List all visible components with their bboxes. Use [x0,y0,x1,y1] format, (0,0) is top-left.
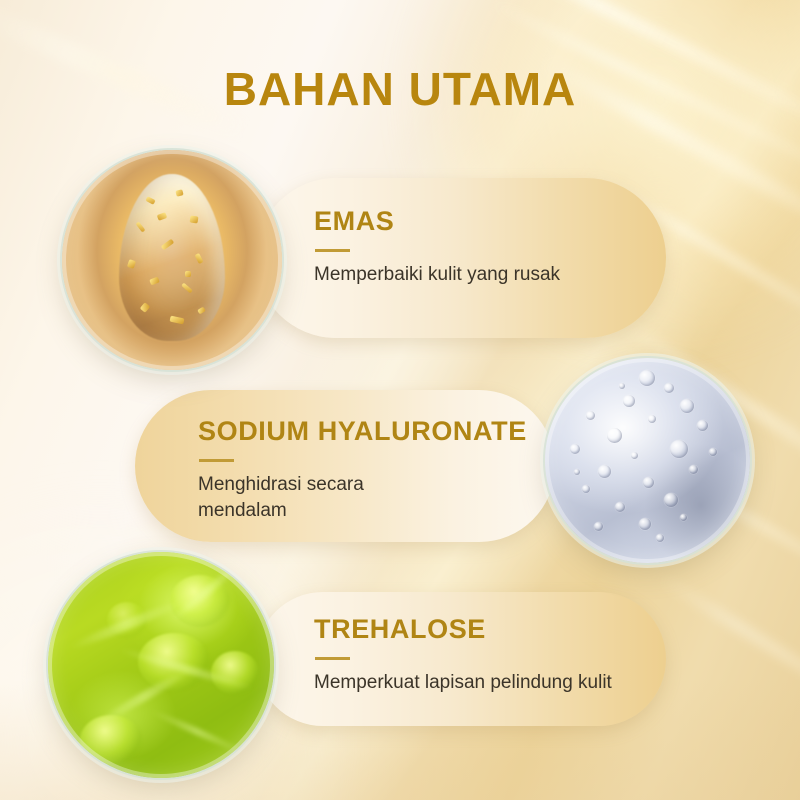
ingredient-name: TREHALOSE [314,614,612,645]
divider [315,249,350,252]
gold-droplet-petri-dish-image [62,150,282,370]
divider [199,459,234,462]
ingredient-card-trehalose: TREHALOSE Memperkuat lapisan pelindung k… [256,592,666,726]
green-gel-petri-dish-image [48,552,274,778]
card-body: SODIUM HYALURONATE Menghidrasi secara me… [198,416,527,523]
ingredients-poster: BAHAN UTAMA EMAS Memperbaiki kulit yang … [0,0,800,800]
card-body: EMAS Memperbaiki kulit yang rusak [314,206,560,288]
page-title: BAHAN UTAMA [0,62,800,116]
divider [315,657,350,660]
ingredient-card-emas: EMAS Memperbaiki kulit yang rusak [256,178,666,338]
ingredient-card-sodium-hyaluronate: SODIUM HYALURONATE Menghidrasi secara me… [135,390,555,542]
ingredient-name: SODIUM HYALURONATE [198,416,527,447]
clear-dish-fill [545,358,750,563]
ingredient-description: Memperkuat lapisan pelindung kulit [314,670,612,696]
ingredient-description: Memperbaiki kulit yang rusak [314,262,560,288]
clear-bubble-gel-petri-dish-image [545,358,750,563]
ingredient-name: EMAS [314,206,560,237]
card-body: TREHALOSE Memperkuat lapisan pelindung k… [314,614,612,696]
ingredient-description: Menghidrasi secara mendalam [198,472,428,523]
